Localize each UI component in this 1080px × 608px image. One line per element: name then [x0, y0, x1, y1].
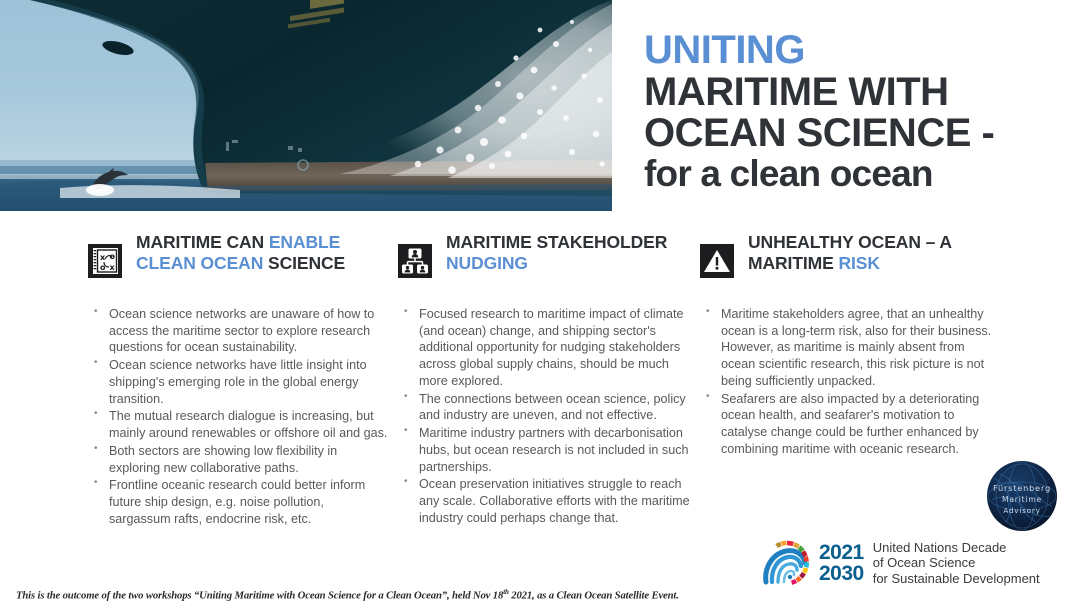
list-item: Seafarers are also impacted by a deterio…	[700, 391, 1000, 458]
un-decade-text: United Nations Decade of Ocean Science f…	[873, 540, 1040, 586]
un-text-line-2: of Ocean Science	[873, 555, 1040, 570]
footnote-text-after: 2021, as a Clean Ocean Satellite Event.	[509, 590, 679, 602]
column-1-header: x o o x MARITIME CAN ENABLE CLEAN OCEAN …	[88, 232, 388, 294]
ship-bow-photo	[0, 0, 612, 211]
un-text-line-3: for Sustainable Development	[873, 571, 1040, 586]
un-year-end: 2030	[819, 563, 864, 584]
hero-image	[0, 0, 612, 211]
heading-part-plain-1: MARITIME CAN	[136, 232, 269, 252]
fma-line-3: Advisory	[1003, 506, 1040, 515]
heading-part-plain-1b: SCIENCE	[263, 253, 345, 273]
footnote-text-before: This is the outcome of the two workshops…	[16, 590, 503, 602]
svg-text:x: x	[110, 263, 116, 272]
content-columns: x o o x MARITIME CAN ENABLE CLEAN OCEAN …	[0, 232, 1080, 582]
column-3-header: UNHEALTHY OCEAN – A MARITIME RISK	[700, 232, 1000, 294]
un-decade-years: 2021 2030	[819, 542, 864, 585]
stakeholder-network-icon	[398, 244, 432, 278]
list-item: The connections between ocean science, p…	[398, 391, 690, 424]
heading-part-plain-2: MARITIME STAKEHOLDER	[446, 232, 667, 252]
list-item: Ocean preservation initiatives struggle …	[398, 476, 690, 526]
fma-line-2: Maritime	[1002, 495, 1042, 504]
title-line-1: UNITING	[644, 30, 1064, 72]
footnote: This is the outcome of the two workshops…	[16, 588, 679, 602]
column-maritime-enable-clean-ocean-science: x o o x MARITIME CAN ENABLE CLEAN OCEAN …	[88, 232, 388, 529]
strategy-board-icon: x o o x	[88, 244, 122, 278]
list-item: Maritime industry partners with decarbon…	[398, 425, 690, 475]
column-maritime-stakeholder-nudging: MARITIME STAKEHOLDER NUDGING Focused res…	[398, 232, 690, 528]
column-2-bullet-list: Focused research to maritime impact of c…	[398, 306, 690, 527]
svg-text:o: o	[100, 263, 106, 272]
un-ocean-decade-wave-icon	[762, 538, 812, 588]
fma-line-1: Fürstenberg	[993, 483, 1051, 493]
title-line-3: OCEAN SCIENCE -	[644, 113, 1064, 155]
list-item: Ocean science networks are unaware of ho…	[88, 306, 388, 356]
warning-triangle-icon	[700, 244, 734, 278]
column-2-heading: MARITIME STAKEHOLDER NUDGING	[398, 232, 690, 273]
list-item: Maritime stakeholders agree, that an unh…	[700, 306, 1000, 390]
page-title: UNITING MARITIME WITH OCEAN SCIENCE - fo…	[644, 30, 1064, 193]
column-unhealthy-ocean-maritime-risk: UNHEALTHY OCEAN – A MARITIME RISK Mariti…	[700, 232, 1000, 459]
list-item: Both sectors are showing low flexibility…	[88, 443, 388, 476]
un-ocean-decade-logo: 2021 2030 United Nations Decade of Ocean…	[762, 538, 1040, 588]
un-text-line-1: United Nations Decade	[873, 540, 1040, 555]
list-item: Frontline oceanic research could better …	[88, 477, 388, 527]
column-3-bullet-list: Maritime stakeholders agree, that an unh…	[700, 306, 1000, 458]
un-year-start: 2021	[819, 542, 864, 563]
list-item: Focused research to maritime impact of c…	[398, 306, 690, 390]
column-1-heading: MARITIME CAN ENABLE CLEAN OCEAN SCIENCE	[88, 232, 388, 273]
title-line-2: MARITIME WITH	[644, 72, 1064, 114]
column-1-bullet-list: Ocean science networks are unaware of ho…	[88, 306, 388, 528]
list-item: Ocean science networks have little insig…	[88, 357, 388, 407]
column-2-header: MARITIME STAKEHOLDER NUDGING	[398, 232, 690, 294]
title-line-4: for a clean ocean	[644, 155, 1064, 193]
svg-text:x: x	[100, 253, 106, 262]
column-3-heading: UNHEALTHY OCEAN – A MARITIME RISK	[700, 232, 1000, 273]
heading-part-accent-3: RISK	[838, 253, 879, 273]
list-item: The mutual research dialogue is increasi…	[88, 408, 388, 441]
furstenberg-maritime-advisory-logo: Fürstenberg Maritime Advisory	[986, 460, 1058, 532]
heading-part-accent-2: NUDGING	[446, 253, 528, 273]
